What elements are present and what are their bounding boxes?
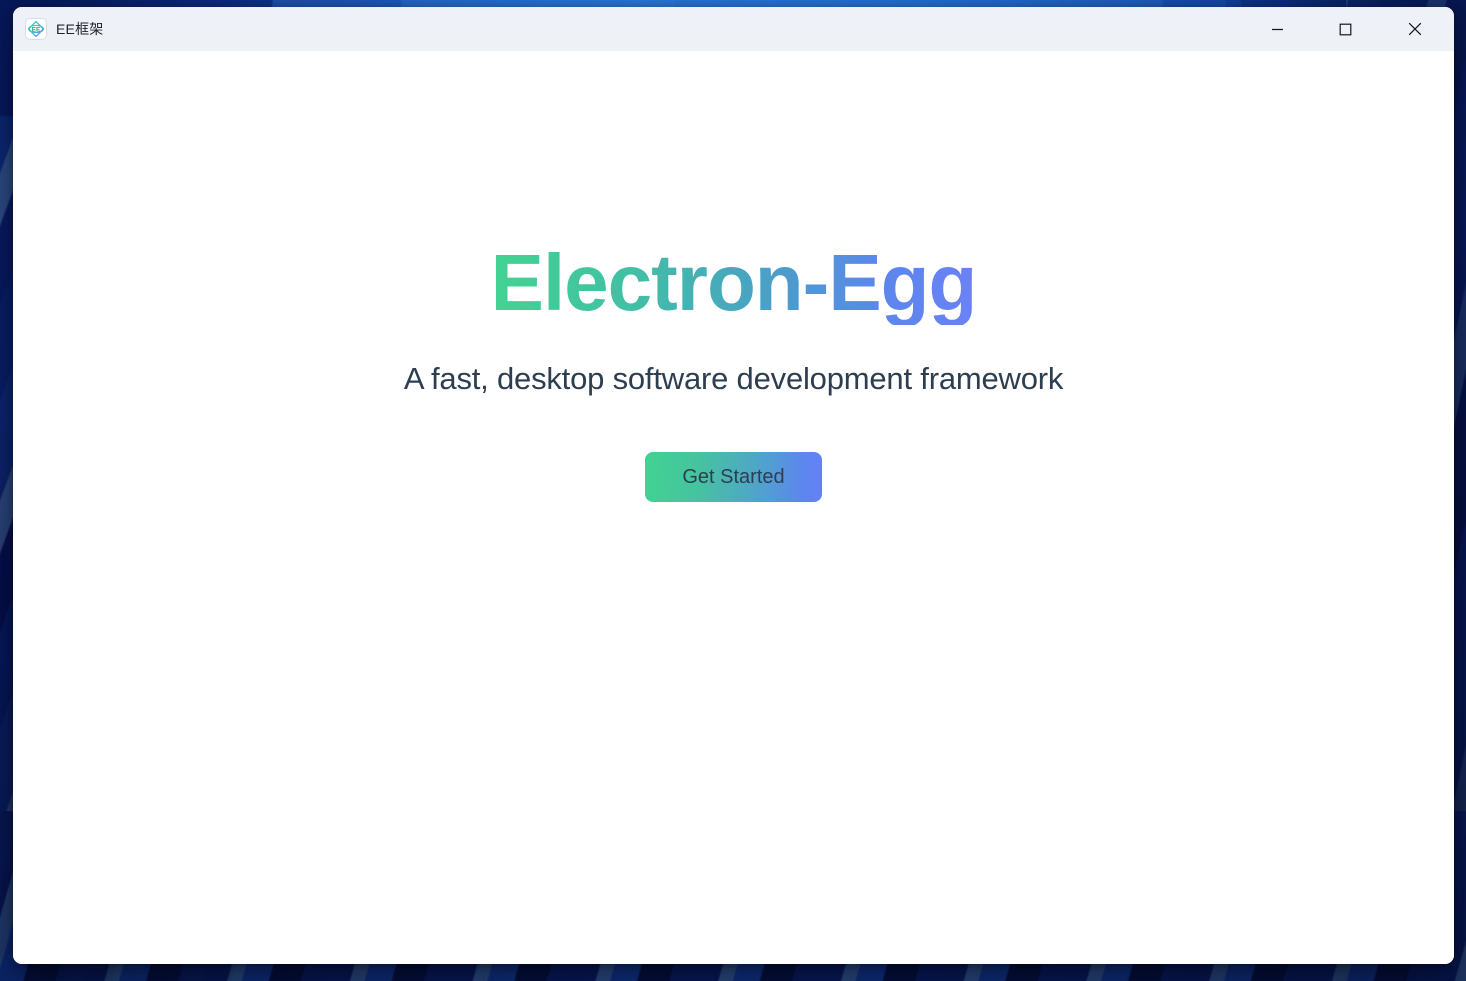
window-title-text: EE框架	[56, 19, 103, 39]
window-controls	[1254, 7, 1454, 51]
window-title-bar[interactable]: EE EE框架	[13, 7, 1454, 51]
minimize-icon	[1271, 23, 1284, 36]
page-subtitle: A fast, desktop software development fra…	[404, 361, 1063, 397]
window-content-area: Electron-Egg A fast, desktop software de…	[13, 51, 1454, 964]
desktop-background: EE EE框架	[0, 0, 1466, 981]
get-started-button[interactable]: Get Started	[645, 452, 822, 502]
hero-section: Electron-Egg A fast, desktop software de…	[13, 241, 1454, 502]
title-bar-left-group: EE EE框架	[13, 18, 103, 40]
ee-framework-app-icon: EE	[25, 18, 47, 40]
svg-text:EE: EE	[32, 26, 41, 33]
maximize-button[interactable]	[1322, 7, 1368, 51]
application-window: EE EE框架	[13, 7, 1454, 964]
page-title: Electron-Egg	[491, 241, 977, 325]
close-button[interactable]	[1392, 7, 1438, 51]
close-icon	[1408, 22, 1422, 36]
maximize-icon	[1339, 23, 1352, 36]
minimize-button[interactable]	[1254, 7, 1300, 51]
